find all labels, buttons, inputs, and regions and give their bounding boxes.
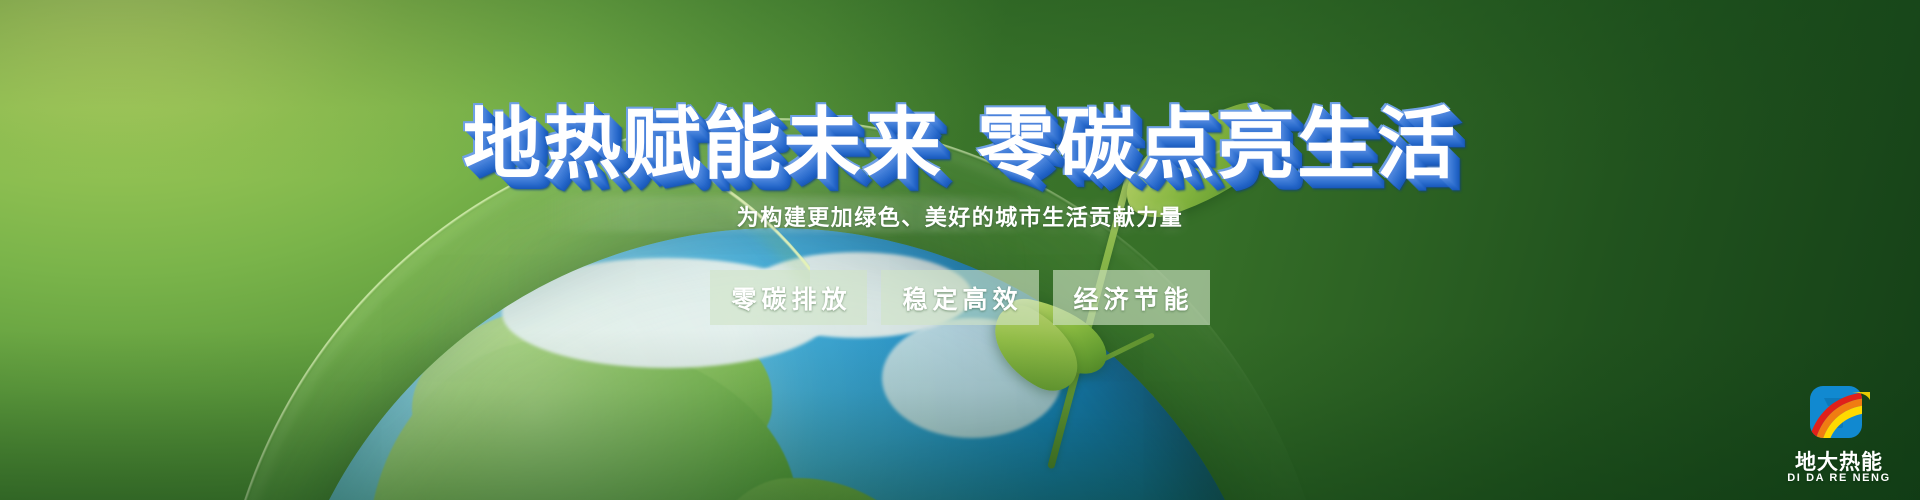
geothermal-promo-banner: 地热赋能未来零碳点亮生活 为构建更加绿色、美好的城市生活贡献力量 零碳排放 稳定… — [0, 0, 1920, 500]
banner-title-part2: 零碳点亮生活 — [977, 100, 1457, 190]
banner-title-part1: 地热赋能未来 — [463, 100, 943, 190]
feature-tag-zero-carbon[interactable]: 零碳排放 — [710, 270, 867, 325]
feature-tag-list: 零碳排放 稳定高效 经济节能 — [0, 270, 1920, 325]
logo-name-en: DI DA RE NENG — [1780, 472, 1898, 484]
feature-tag-economic-saving[interactable]: 经济节能 — [1053, 270, 1210, 325]
banner-title: 地热赋能未来零碳点亮生活 — [0, 106, 1920, 184]
feature-tag-stable-efficient[interactable]: 稳定高效 — [881, 270, 1038, 325]
didareneng-logo-icon — [1806, 384, 1872, 444]
banner-subtitle: 为构建更加绿色、美好的城市生活贡献力量 — [0, 200, 1920, 232]
company-logo[interactable]: 地大热能 DI DA RE NENG — [1780, 384, 1898, 496]
banner-content: 地热赋能未来零碳点亮生活 为构建更加绿色、美好的城市生活贡献力量 零碳排放 稳定… — [0, 0, 1920, 500]
